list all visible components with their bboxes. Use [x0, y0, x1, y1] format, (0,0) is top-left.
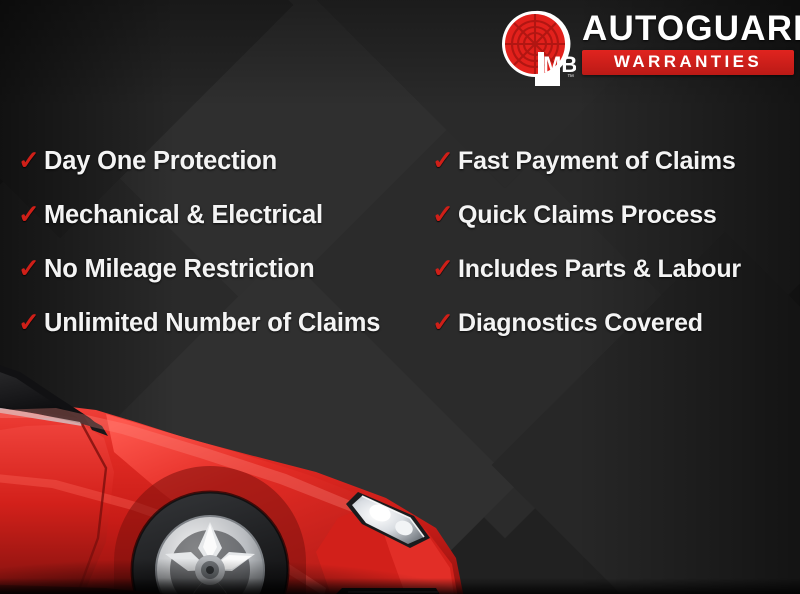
feature-label: Day One Protection: [44, 146, 277, 176]
check-icon: ✓: [432, 147, 458, 173]
feature-label: Diagnostics Covered: [458, 308, 703, 338]
feature-column-right: ✓ Fast Payment of Claims ✓ Quick Claims …: [432, 134, 792, 350]
feature-item: ✓ Quick Claims Process: [432, 188, 792, 242]
feature-label: Quick Claims Process: [458, 200, 717, 230]
check-icon: ✓: [18, 255, 44, 281]
brand-name: AUTOGUARD: [582, 10, 794, 48]
feature-list: ✓ Day One Protection ✓ Mechanical & Elec…: [0, 134, 800, 354]
check-icon: ✓: [432, 309, 458, 335]
feature-label: Mechanical & Electrical: [44, 200, 323, 230]
check-icon: ✓: [432, 255, 458, 281]
brand-logo: MBi ™ AUTOGUARD WARRANTIES: [498, 6, 794, 88]
feature-item: ✓ No Mileage Restriction: [18, 242, 438, 296]
feature-item: ✓ Includes Parts & Labour: [432, 242, 792, 296]
feature-label: Fast Payment of Claims: [458, 146, 736, 176]
feature-item: ✓ Day One Protection: [18, 134, 438, 188]
feature-item: ✓ Unlimited Number of Claims: [18, 296, 438, 350]
check-icon: ✓: [432, 201, 458, 227]
feature-column-left: ✓ Day One Protection ✓ Mechanical & Elec…: [18, 134, 438, 350]
autoguard-warranty-banner: MBi ™ AUTOGUARD WARRANTIES ✓ Day One Pro…: [0, 0, 800, 594]
feature-item: ✓ Fast Payment of Claims: [432, 134, 792, 188]
feature-label: No Mileage Restriction: [44, 254, 315, 284]
feature-item: ✓ Diagnostics Covered: [432, 296, 792, 350]
mbi-circle-logo-icon: MBi ™: [498, 8, 576, 86]
red-car-image: [0, 352, 496, 594]
trademark-symbol: ™: [567, 74, 574, 81]
brand-tagline: WARRANTIES: [582, 53, 794, 71]
brand-tagline-bar: WARRANTIES: [582, 50, 794, 75]
feature-label: Includes Parts & Labour: [458, 254, 741, 284]
brand-wordmark: AUTOGUARD WARRANTIES: [582, 10, 794, 75]
bottom-fade: [0, 578, 800, 594]
feature-label: Unlimited Number of Claims: [44, 308, 380, 338]
check-icon: ✓: [18, 147, 44, 173]
check-icon: ✓: [18, 309, 44, 335]
feature-item: ✓ Mechanical & Electrical: [18, 188, 438, 242]
check-icon: ✓: [18, 201, 44, 227]
